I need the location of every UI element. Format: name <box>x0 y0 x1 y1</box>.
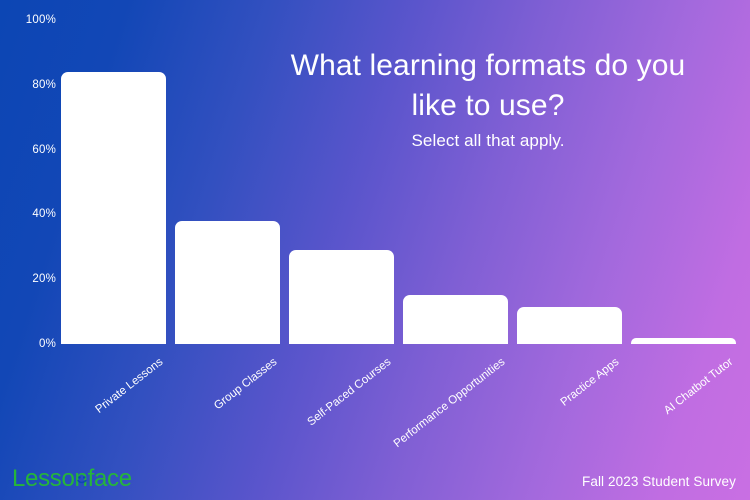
bar-3 <box>403 295 508 344</box>
bar-series <box>0 0 750 500</box>
logo-wordmark: Lessonface <box>12 465 132 493</box>
logo-label: Lessonface <box>12 465 132 492</box>
smiley-face-icon <box>76 474 88 486</box>
lessonface-logo[interactable]: Lessonface <box>12 466 132 492</box>
bar-4 <box>517 307 622 344</box>
survey-source-note: Fall 2023 Student Survey <box>582 474 736 489</box>
bar-2 <box>289 250 394 344</box>
bar-1 <box>175 221 280 344</box>
bar-5 <box>631 338 736 344</box>
bar-chart: 0%20%40%60%80%100% Private LessonsGroup … <box>0 0 750 500</box>
bar-0 <box>61 72 166 344</box>
survey-chart-poster: 0%20%40%60%80%100% Private LessonsGroup … <box>0 0 750 500</box>
